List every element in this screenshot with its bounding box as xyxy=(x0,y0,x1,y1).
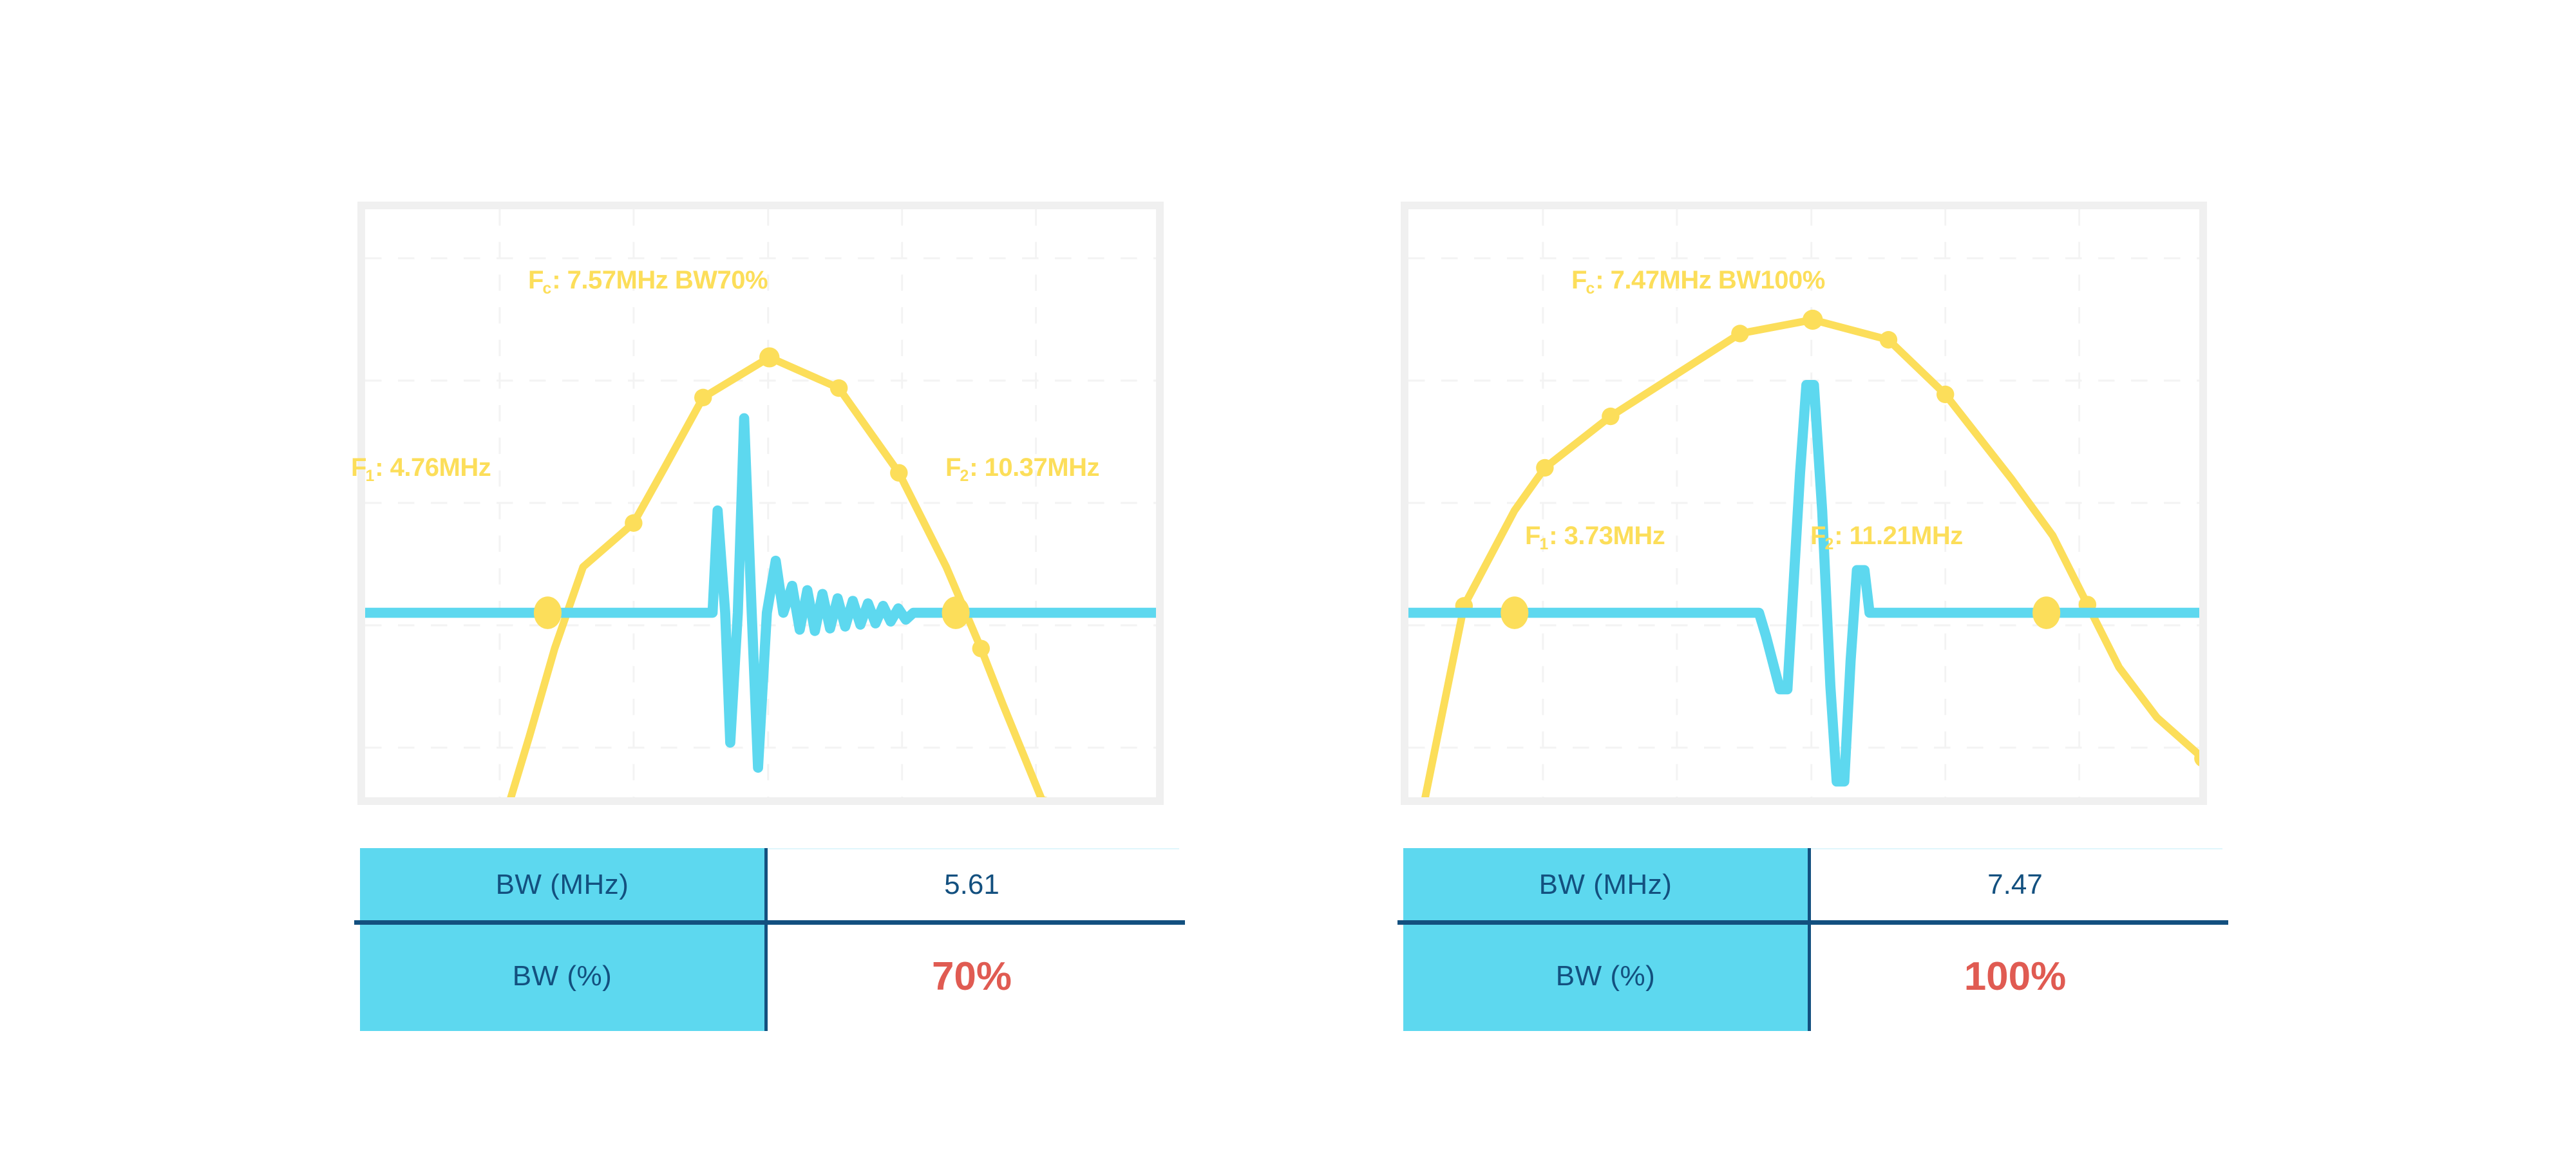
annotation-fc-text: : 7.57MHz BW70% xyxy=(552,266,768,294)
bw-mhz-label: BW (MHz) xyxy=(360,848,764,922)
annotation-fc-subscript: c xyxy=(1586,280,1594,298)
bandwidth-table-right: BW (MHz) 7.47 BW (%) 100% xyxy=(1403,848,2222,1031)
table-row: BW (MHz) 7.47 xyxy=(1403,848,2222,922)
annotation-f2-left: F2: 10.37MHz xyxy=(945,455,1099,480)
bw-mhz-value: 5.61 xyxy=(764,848,1179,922)
annotation-f1-text: : 4.76MHz xyxy=(375,453,491,482)
annotation-fc-prefix: F xyxy=(1571,266,1587,294)
annotation-f2-text: : 11.21MHz xyxy=(1834,522,1963,550)
annotation-fc-prefix: F xyxy=(528,266,544,294)
bandwidth-table-left: BW (MHz) 5.61 BW (%) 70% xyxy=(360,848,1179,1031)
bw-percent-label: BW (%) xyxy=(1403,922,1808,1031)
annotation-f1-prefix: F xyxy=(1525,522,1540,550)
chart-right-svg xyxy=(1408,209,2199,797)
annotation-f1-left: F1: 4.76MHz xyxy=(351,455,491,480)
bw-percent-label: BW (%) xyxy=(360,922,764,1031)
annotation-f2-right: F2: 11.21MHz xyxy=(1810,523,1963,549)
bw-percent-value: 100% xyxy=(1808,922,2222,1031)
annotation-fc-text: : 7.47MHz BW100% xyxy=(1595,266,1825,294)
annotation-f1-prefix: F xyxy=(351,453,366,482)
table-row: BW (%) 100% xyxy=(1403,922,2222,1031)
table-row: BW (%) 70% xyxy=(360,922,1179,1031)
annotation-f2-subscript: 2 xyxy=(1824,536,1833,553)
annotation-f2-prefix: F xyxy=(945,453,961,482)
table-column-divider xyxy=(1808,848,1811,1031)
table-row-divider xyxy=(1397,920,2228,925)
bw-percent-value: 70% xyxy=(764,922,1179,1031)
table-row: BW (MHz) 5.61 xyxy=(360,848,1179,922)
annotation-f2-text: : 10.37MHz xyxy=(969,453,1099,482)
annotation-f1-text: : 3.73MHz xyxy=(1549,522,1665,550)
annotation-f1-right: F1: 3.73MHz xyxy=(1525,523,1665,549)
annotation-fc-right: Fc: 7.47MHz BW100% xyxy=(1571,267,1825,293)
bw-mhz-value: 7.47 xyxy=(1808,848,2222,922)
measurement-panel-left: Fc: 7.57MHz BW70% F1: 4.76MHz F2: 10.37M… xyxy=(277,0,1501,1154)
annotation-fc-left: Fc: 7.57MHz BW70% xyxy=(528,267,768,293)
table-column-divider xyxy=(764,848,768,1031)
measurement-panel-right: Fc: 7.47MHz BW100% F1: 3.73MHz F2: 11.21… xyxy=(1320,0,2544,1154)
annotation-f1-subscript: 1 xyxy=(1539,536,1548,553)
bw-mhz-label: BW (MHz) xyxy=(1403,848,1808,922)
annotation-f1-subscript: 1 xyxy=(365,468,374,485)
gridlines xyxy=(1408,209,2199,797)
chart-left-svg xyxy=(365,209,1156,797)
table-row-divider xyxy=(354,920,1185,925)
annotation-fc-subscript: c xyxy=(542,280,551,298)
annotation-f2-prefix: F xyxy=(1810,522,1826,550)
annotation-f2-subscript: 2 xyxy=(960,468,968,485)
